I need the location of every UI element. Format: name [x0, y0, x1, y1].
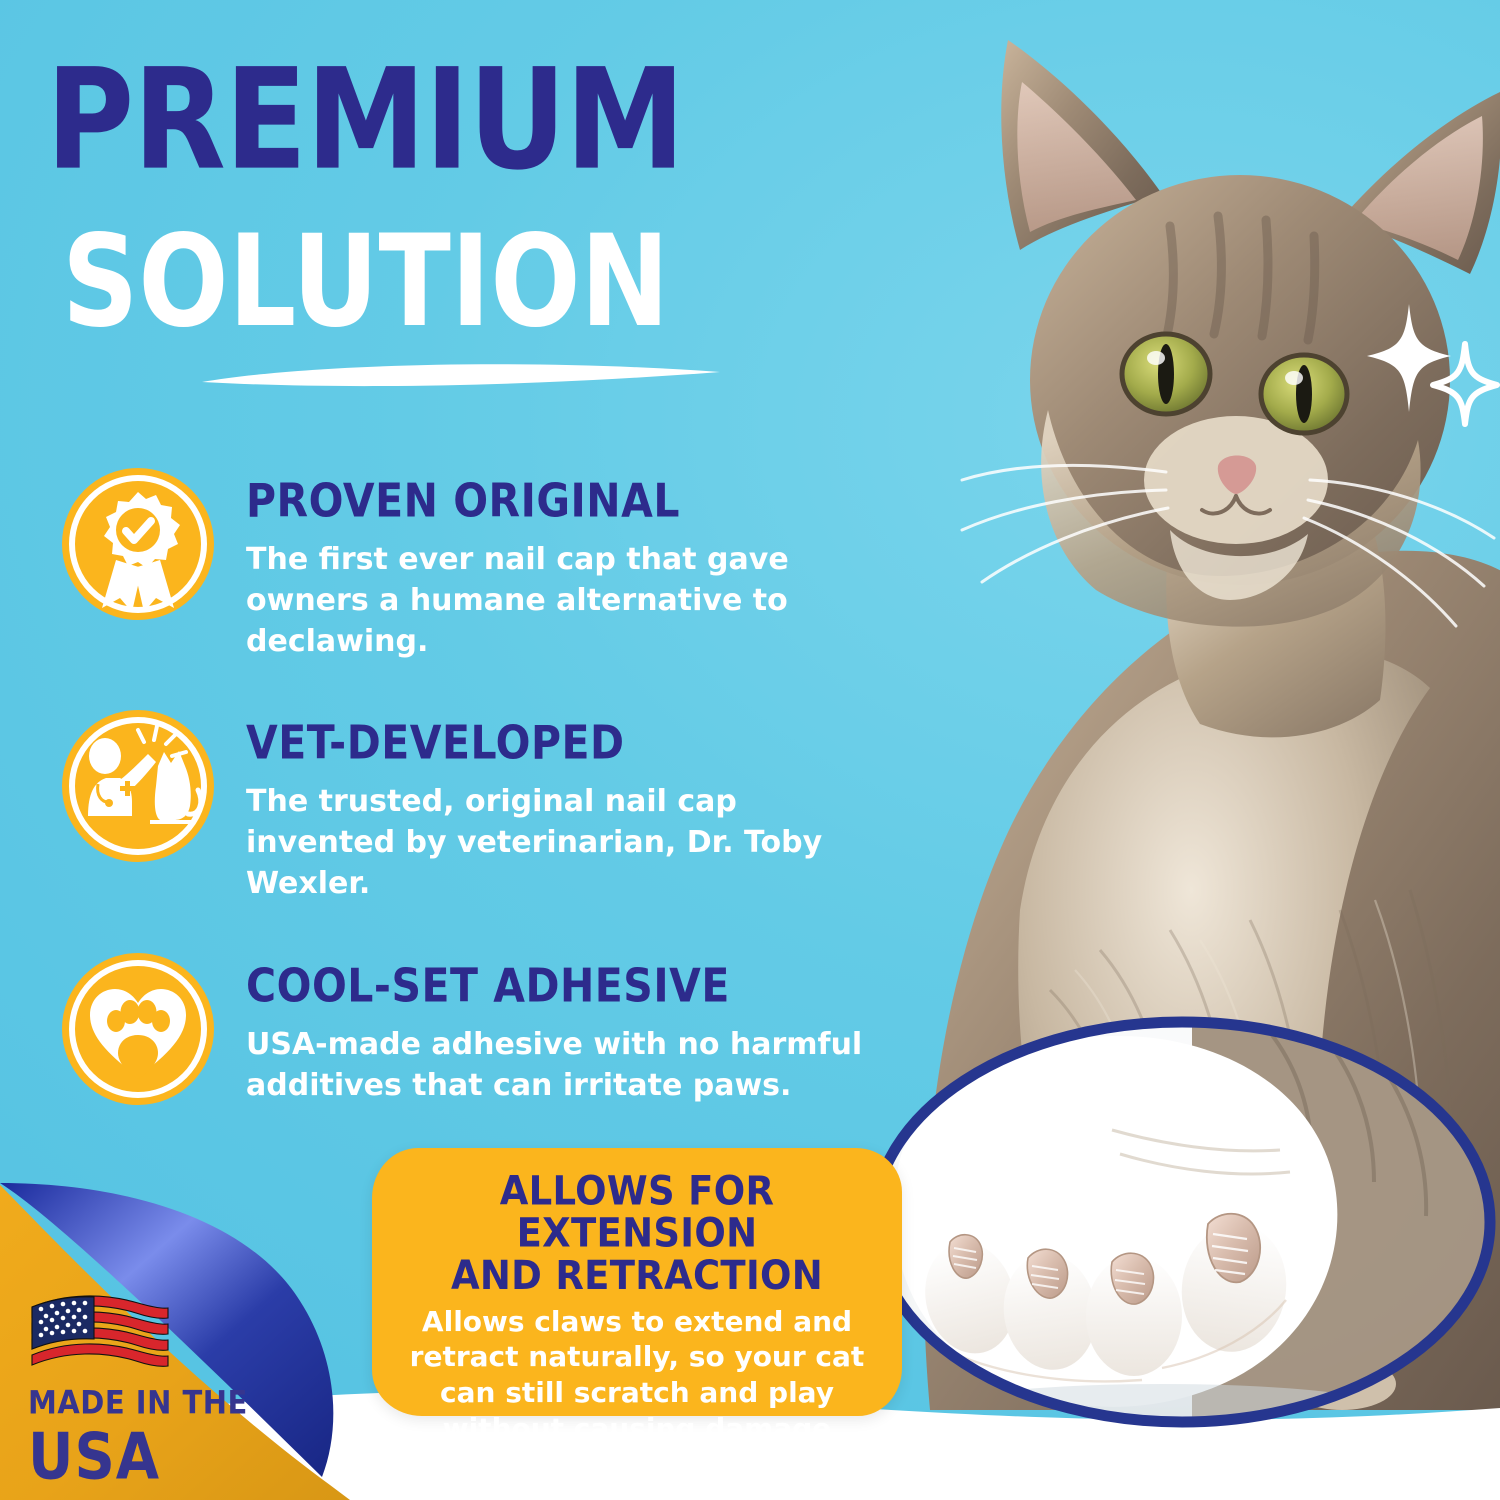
page-title-line1: PREMIUM — [46, 52, 893, 188]
callout-title-line2: AND RETRACTION — [398, 1255, 876, 1297]
swoosh-divider-icon — [196, 352, 726, 398]
feature-title: COOL-SET ADHESIVE — [246, 959, 882, 1013]
sparkle-star-icon — [1367, 304, 1451, 412]
feature-description: The trusted, original nail cap invented … — [246, 782, 882, 904]
made-in-usa-line2: USA — [28, 1426, 248, 1490]
feature-title: VET-DEVELOPED — [246, 716, 882, 770]
award-ribbon-icon — [58, 464, 218, 624]
made-in-usa-badge: MADE IN THE USA — [28, 1285, 248, 1482]
feature-list: PROVEN ORIGINAL The first ever nail cap … — [52, 462, 882, 1151]
heart-paw-icon — [58, 949, 218, 1109]
feature-description: The first ever nail cap that gave owners… — [246, 540, 882, 662]
feature-title: PROVEN ORIGINAL — [246, 474, 882, 528]
product-infographic: PREMIUM SOLUTION — [0, 0, 1500, 1500]
feature-item-cool-set-adhesive: COOL-SET ADHESIVE USA-made adhesive with… — [52, 947, 882, 1109]
extension-retraction-callout: ALLOWS FOR EXTENSION AND RETRACTION Allo… — [372, 1148, 902, 1416]
page-title-line2: SOLUTION — [62, 220, 892, 344]
callout-title: ALLOWS FOR EXTENSION AND RETRACTION — [398, 1170, 876, 1297]
usa-flag-icon — [28, 1285, 170, 1377]
feature-item-vet-developed: VET-DEVELOPED The trusted, original nail… — [52, 704, 882, 904]
sparkle-group — [1355, 300, 1500, 430]
callout-description: Allows claws to extend and retract natur… — [398, 1304, 876, 1447]
made-in-usa-line1: MADE IN THE — [28, 1387, 248, 1419]
vet-highfive-cat-icon — [58, 706, 218, 866]
callout-title-line1: ALLOWS FOR EXTENSION — [398, 1170, 876, 1255]
headline-block: PREMIUM SOLUTION — [46, 52, 876, 322]
cat-paw-with-nail-caps-photo — [862, 1012, 1500, 1432]
feature-description: USA-made adhesive with no harmful additi… — [246, 1025, 882, 1107]
feature-item-proven-original: PROVEN ORIGINAL The first ever nail cap … — [52, 462, 882, 662]
